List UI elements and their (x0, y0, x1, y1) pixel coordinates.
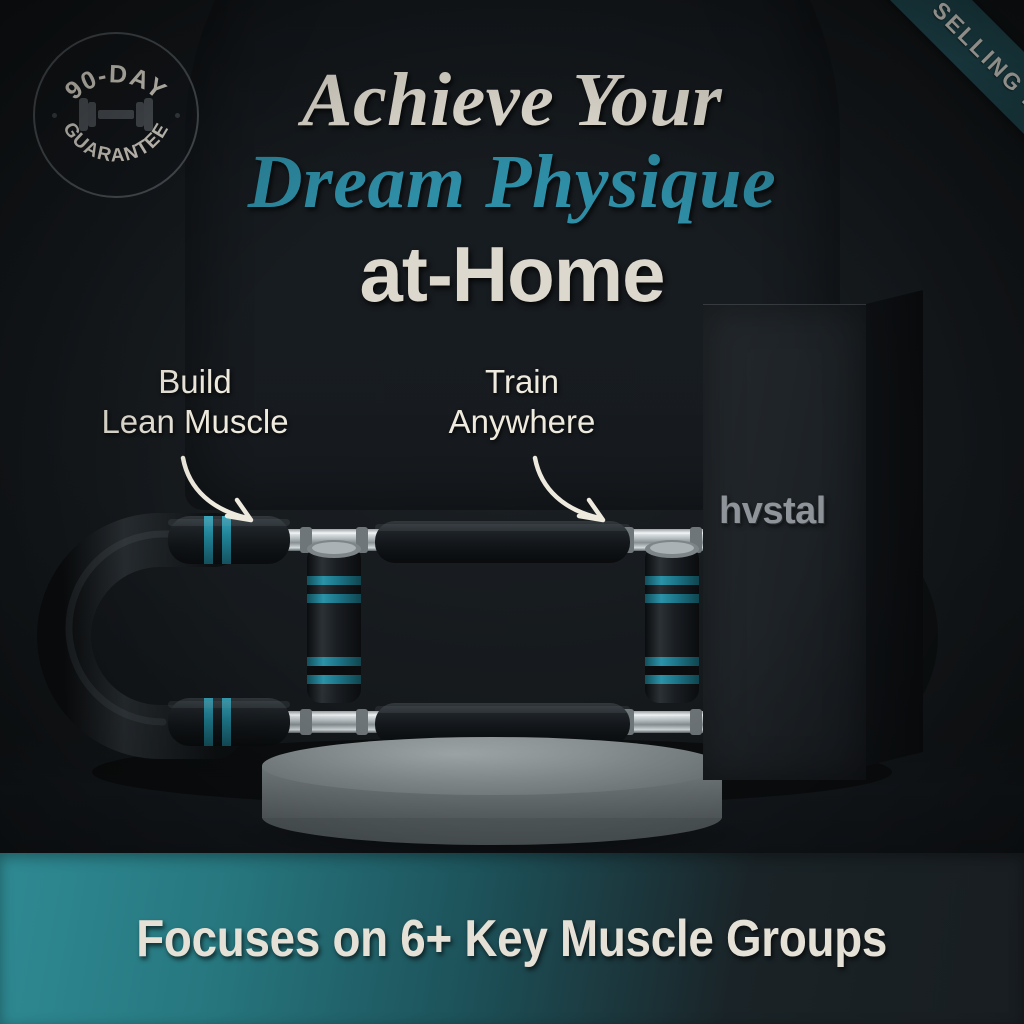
headline-line-2: Dream Physique (0, 140, 1024, 225)
box-front-face (703, 304, 866, 780)
callout-train-anywhere: Train Anywhere (412, 362, 632, 443)
headline-line-3: at-Home (0, 225, 1024, 325)
advertisement-canvas: hvstal 90-DAY GUARANTEE (0, 0, 1024, 1024)
bottom-feature-banner: Focuses on 6+ Key Muscle Groups (0, 853, 1024, 1024)
banner-headline: Focuses on 6+ Key Muscle Groups (137, 909, 888, 969)
box-brand-label: hvstal (719, 490, 869, 533)
box-side-face (866, 290, 923, 766)
curved-arrow-icon (527, 452, 637, 532)
product-podium (262, 737, 722, 835)
headline-line-1: Achieve Your (0, 62, 1024, 140)
callout-build-label: Build Lean Muscle (70, 362, 320, 443)
curved-arrow-icon (175, 452, 285, 532)
product-packaging-box: hvstal (703, 290, 923, 780)
podium-top (262, 737, 722, 795)
callout-build-lean-muscle: Build Lean Muscle (70, 362, 320, 443)
headline-block: Achieve Your Dream Physique at-Home (0, 62, 1024, 324)
callout-train-label: Train Anywhere (412, 362, 632, 443)
